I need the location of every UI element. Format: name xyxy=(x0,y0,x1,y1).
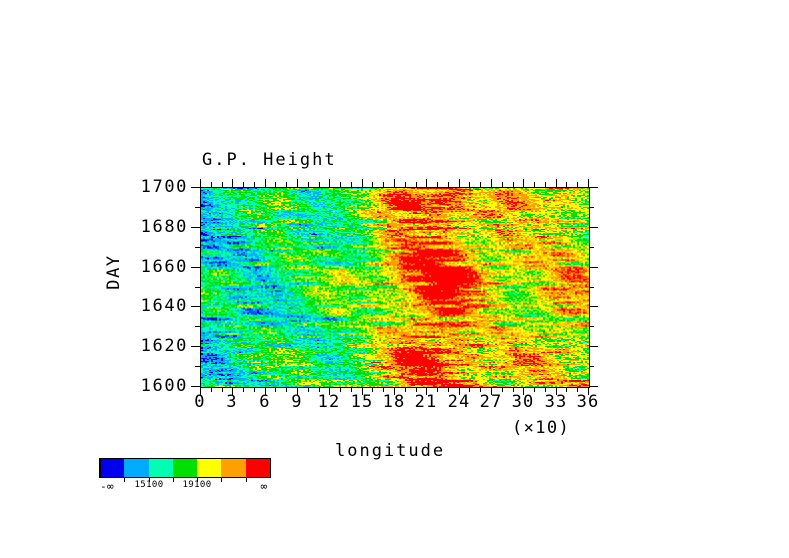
x-minor-tick xyxy=(243,387,244,392)
x-tick-label: 33 xyxy=(545,392,568,412)
colorbar-tick xyxy=(173,477,174,482)
y-minor-tick xyxy=(195,366,200,367)
x-axis-multiplier-label: (×10) xyxy=(512,418,570,438)
x-major-tick-top xyxy=(329,179,330,187)
y-axis-title: DAY xyxy=(104,254,124,290)
colorbar-tick xyxy=(246,477,247,482)
x-minor-tick-top xyxy=(566,182,567,187)
colorbar xyxy=(100,459,270,477)
x-major-tick-top xyxy=(200,179,201,187)
x-tick-label: 24 xyxy=(448,392,471,412)
colorbar-tick xyxy=(124,477,125,482)
x-minor-tick-top xyxy=(254,182,255,187)
heatmap-canvas xyxy=(201,188,589,387)
x-tick-label: 9 xyxy=(291,392,302,412)
x-minor-tick-top xyxy=(340,182,341,187)
heatmap-plot-area xyxy=(200,187,590,388)
x-major-tick-top xyxy=(523,179,524,187)
y-tick-label: 1660 xyxy=(141,257,188,277)
x-tick-label: 30 xyxy=(512,392,535,412)
x-major-tick-top xyxy=(491,179,492,187)
x-major-tick-top xyxy=(297,179,298,187)
y-tick-label: 1680 xyxy=(141,217,188,237)
x-minor-tick-top xyxy=(502,182,503,187)
y-major-tick xyxy=(191,306,200,307)
x-minor-tick-top xyxy=(513,182,514,187)
chart-title: G.P. Height xyxy=(202,150,337,170)
y-minor-tick-right xyxy=(589,326,594,327)
x-axis-title: longitude xyxy=(335,441,445,461)
colorbar-band xyxy=(246,459,270,477)
x-major-tick-top xyxy=(588,179,589,187)
y-major-tick-right xyxy=(589,267,598,268)
x-minor-tick-top xyxy=(416,182,417,187)
x-minor-tick-top xyxy=(275,182,276,187)
x-minor-tick-top xyxy=(534,182,535,187)
x-major-tick-top xyxy=(459,179,460,187)
y-major-tick xyxy=(191,227,200,228)
x-major-tick-top xyxy=(362,179,363,187)
colorbar-band xyxy=(173,459,197,477)
y-major-tick-right xyxy=(589,306,598,307)
y-minor-tick-right xyxy=(589,247,594,248)
x-minor-tick-top xyxy=(469,182,470,187)
colorbar-band xyxy=(124,459,148,477)
x-minor-tick-top xyxy=(437,182,438,187)
colorbar-tick xyxy=(221,477,222,482)
x-minor-tick-top xyxy=(448,182,449,187)
x-tick-label: 12 xyxy=(318,392,341,412)
x-minor-tick xyxy=(254,387,255,392)
y-tick-label: 1700 xyxy=(141,177,188,197)
colorbar-band xyxy=(100,459,124,477)
x-major-tick-top xyxy=(426,179,427,187)
colorbar-endcap xyxy=(100,459,101,477)
colorbar-band xyxy=(149,459,173,477)
x-minor-tick-top xyxy=(480,182,481,187)
y-minor-tick xyxy=(195,247,200,248)
x-minor-tick-top xyxy=(372,182,373,187)
colorbar-endcap xyxy=(270,459,271,477)
y-major-tick-right xyxy=(589,187,598,188)
colorbar-band xyxy=(197,459,221,477)
x-tick-label: 6 xyxy=(259,392,270,412)
x-minor-tick-top xyxy=(243,182,244,187)
x-tick-label: 21 xyxy=(415,392,438,412)
x-tick-label: 18 xyxy=(383,392,406,412)
x-tick-label: 27 xyxy=(480,392,503,412)
x-minor-tick-top xyxy=(286,182,287,187)
x-minor-tick-top xyxy=(383,182,384,187)
y-minor-tick-right xyxy=(589,207,594,208)
x-minor-tick-top xyxy=(577,182,578,187)
y-tick-label: 1600 xyxy=(141,376,188,396)
colorbar-max-label: ∞ xyxy=(260,480,267,493)
x-minor-tick-top xyxy=(211,182,212,187)
x-major-tick-top xyxy=(265,179,266,187)
x-minor-tick-top xyxy=(351,182,352,187)
y-tick-label: 1620 xyxy=(141,336,188,356)
x-minor-tick xyxy=(275,387,276,392)
x-minor-tick xyxy=(286,387,287,392)
colorbar-band xyxy=(221,459,245,477)
x-tick-label: 0 xyxy=(194,392,205,412)
figure-root: G.P. Height 160016201640166016801700 036… xyxy=(0,0,789,558)
x-minor-tick-top xyxy=(222,182,223,187)
x-major-tick-top xyxy=(556,179,557,187)
colorbar-min-label: -∞ xyxy=(100,480,114,493)
y-major-tick-right xyxy=(589,346,598,347)
y-major-tick xyxy=(191,267,200,268)
x-major-tick-top xyxy=(232,179,233,187)
x-minor-tick xyxy=(211,387,212,392)
colorbar-value-label: 15100 xyxy=(134,480,163,490)
y-minor-tick xyxy=(195,287,200,288)
y-minor-tick xyxy=(195,326,200,327)
x-tick-label: 36 xyxy=(577,392,600,412)
y-major-tick xyxy=(191,346,200,347)
x-minor-tick-top xyxy=(545,182,546,187)
x-tick-label: 15 xyxy=(351,392,374,412)
y-major-tick xyxy=(191,386,200,387)
y-minor-tick-right xyxy=(589,366,594,367)
x-minor-tick xyxy=(222,387,223,392)
y-minor-tick-right xyxy=(589,287,594,288)
y-major-tick-right xyxy=(589,227,598,228)
y-major-tick xyxy=(191,187,200,188)
x-tick-label: 3 xyxy=(226,392,237,412)
x-minor-tick-top xyxy=(308,182,309,187)
x-minor-tick-top xyxy=(319,182,320,187)
x-major-tick-top xyxy=(394,179,395,187)
y-tick-label: 1640 xyxy=(141,296,188,316)
y-major-tick-right xyxy=(589,386,598,387)
y-minor-tick xyxy=(195,207,200,208)
colorbar-value-label: 19100 xyxy=(182,480,211,490)
x-minor-tick-top xyxy=(405,182,406,187)
x-minor-tick xyxy=(308,387,309,392)
